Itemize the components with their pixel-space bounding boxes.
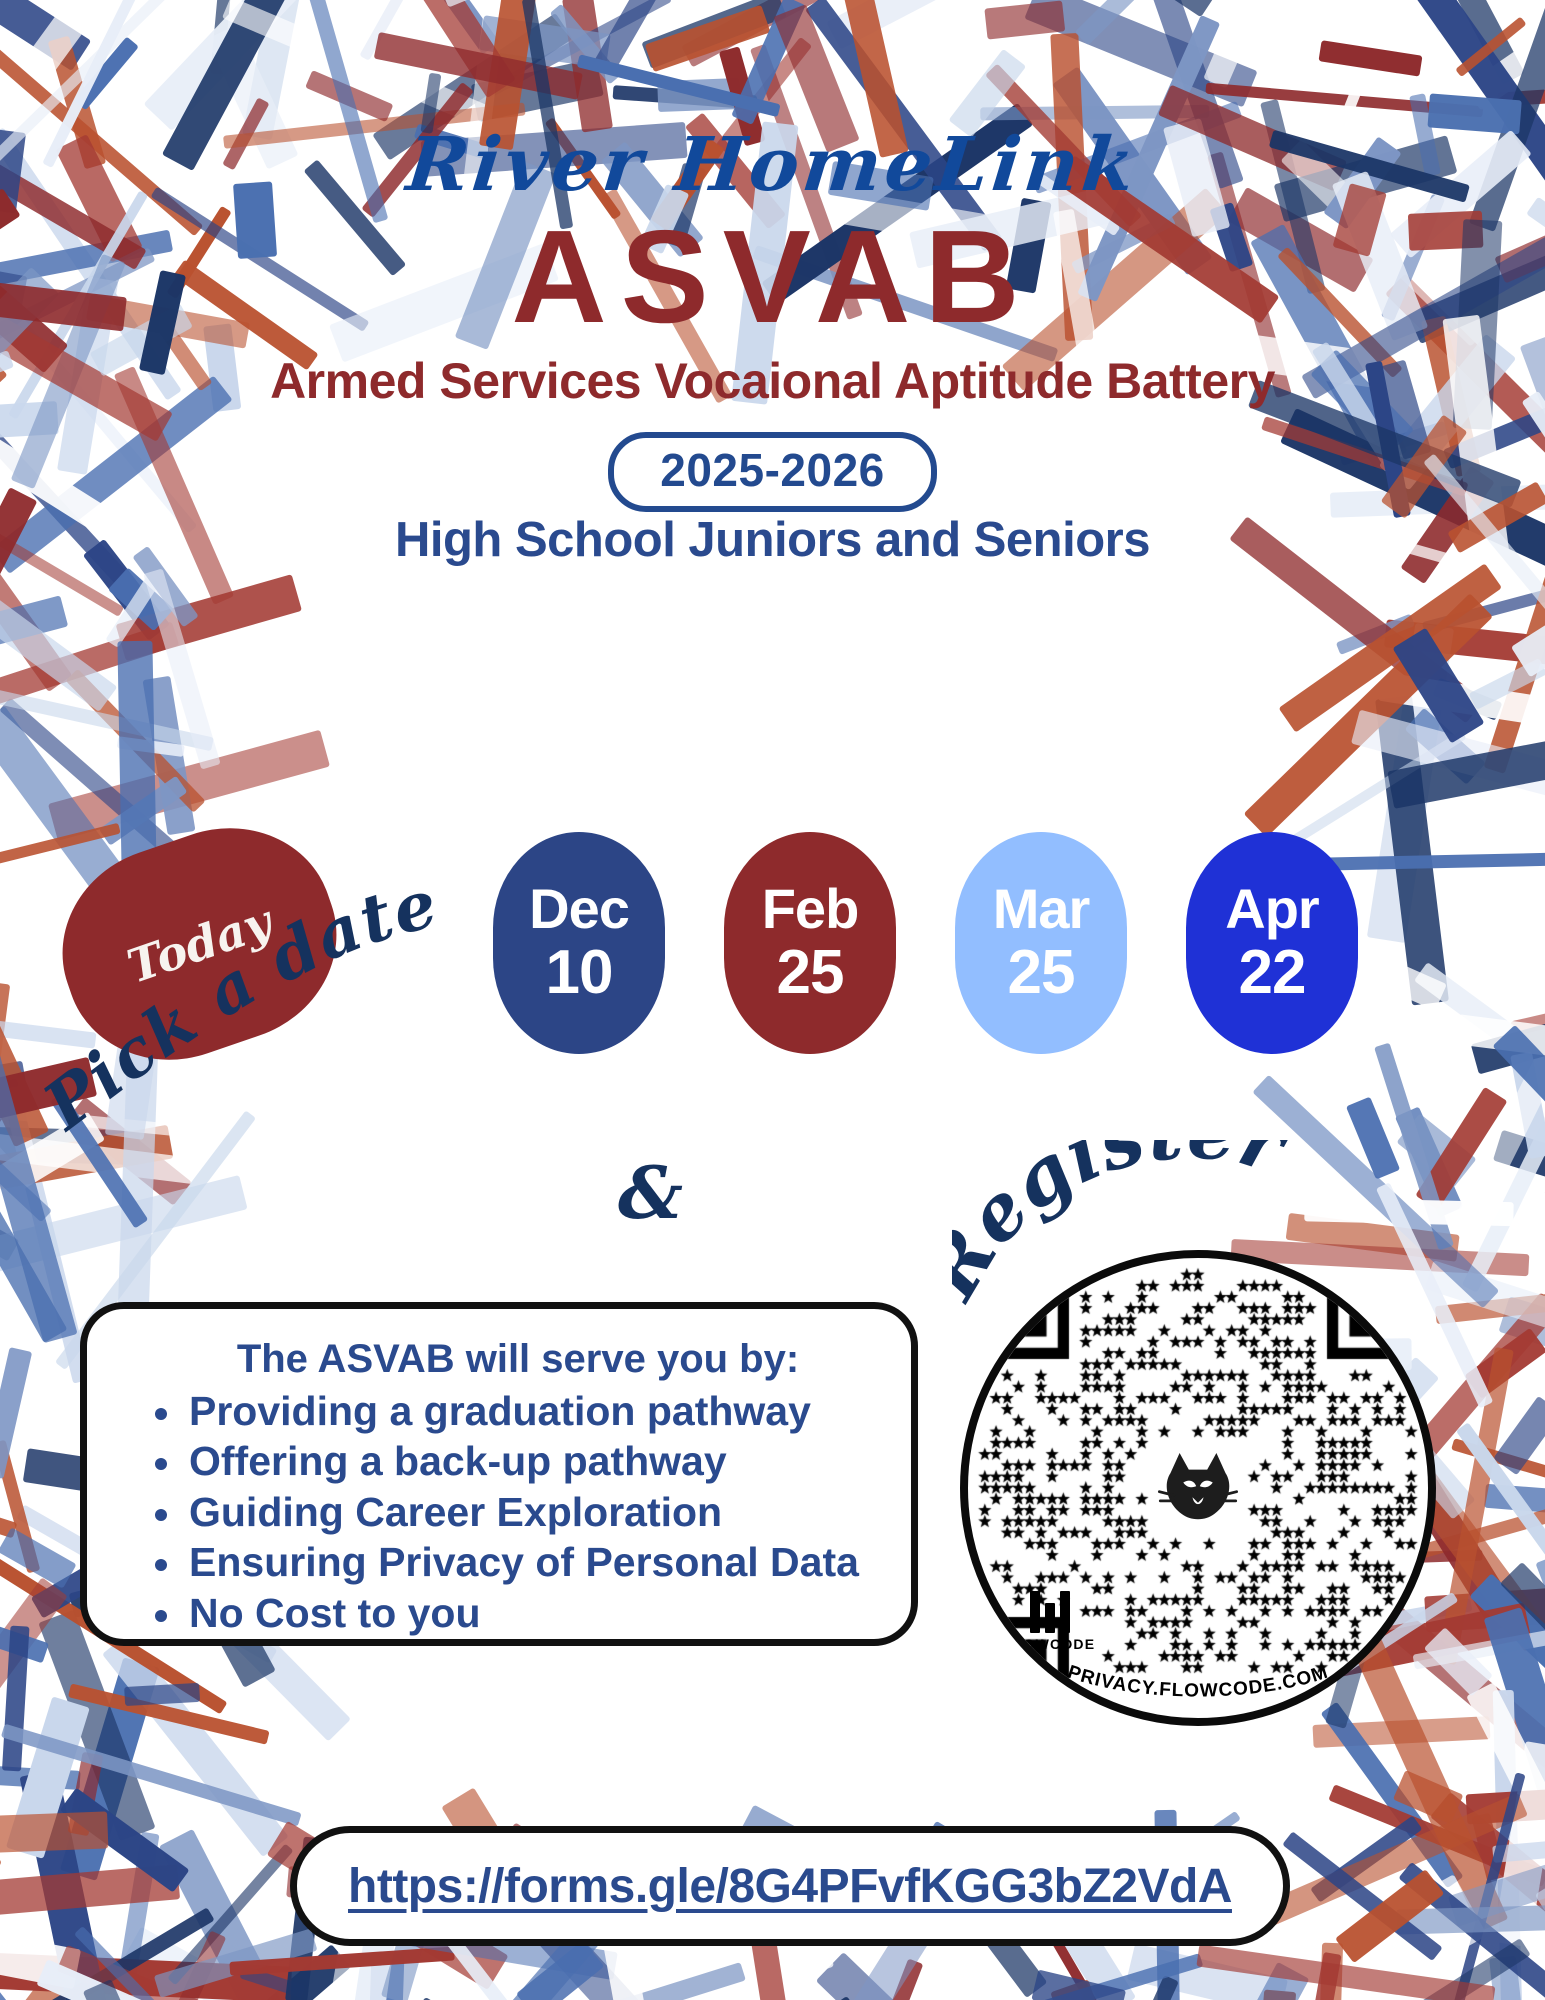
audience-line: High School Juniors and Seniors	[0, 512, 1545, 568]
date-pill-month: Mar	[993, 882, 1090, 937]
list-item: Offering a back-up pathway	[133, 1436, 881, 1486]
pick-a-date-text: Pick a date	[40, 890, 446, 1146]
date-pill-apr[interactable]: Apr 22	[1186, 832, 1358, 1054]
privacy-url-arc: PRIVACY.FLOWCODE.COM	[968, 1626, 1428, 1716]
benefits-box: The ASVAB will serve you by: Providing a…	[80, 1302, 918, 1646]
ampersand-glyph: &	[618, 1150, 683, 1235]
date-pill-day: 25	[1008, 943, 1075, 1004]
registration-url-bar[interactable]: https://forms.gle/8G4PFvfKGG3bZ2VdA	[290, 1826, 1290, 1946]
date-pill-feb[interactable]: Feb 25	[724, 832, 896, 1054]
date-pill-month: Feb	[762, 882, 859, 937]
registration-url[interactable]: https://forms.gle/8G4PFvfKGG3bZ2VdA	[348, 1859, 1232, 1914]
date-pill-day: 10	[546, 943, 613, 1004]
pick-a-date-script: Pick a date	[40, 890, 560, 1150]
qr-code[interactable]: FLOWCODE PRIVACY.FLOWCODE.COM	[960, 1250, 1436, 1726]
list-item: No Cost to you	[133, 1588, 881, 1638]
date-pill-mar[interactable]: Mar 25	[955, 832, 1127, 1054]
lynx-mascot-icon	[1152, 1442, 1244, 1534]
page-title: ASVAB	[0, 208, 1545, 347]
benefits-list: Providing a graduation pathway Offering …	[133, 1386, 881, 1638]
list-item: Ensuring Privacy of Personal Data	[133, 1537, 881, 1587]
list-item: Guiding Career Exploration	[133, 1487, 881, 1537]
date-pill-dec[interactable]: Dec 10	[493, 832, 665, 1054]
date-pill-day: 25	[777, 943, 844, 1004]
list-item: Providing a graduation pathway	[133, 1386, 881, 1436]
school-year-badge: 2025-2026	[608, 432, 936, 512]
date-pill-day: 22	[1239, 943, 1306, 1004]
date-pill-month: Dec	[529, 882, 629, 937]
organization-name: River HomeLink	[0, 122, 1545, 208]
acronym-expansion: Armed Services Vocaional Aptitude Batter…	[0, 352, 1545, 410]
benefits-title: The ASVAB will serve you by:	[155, 1337, 881, 1382]
asvab-flyer: River HomeLink ASVAB Armed Services Voca…	[0, 0, 1545, 2000]
school-year-badge-wrap: 2025-2026	[0, 432, 1545, 512]
date-pill-month: Apr	[1225, 882, 1318, 937]
privacy-url-text: PRIVACY.FLOWCODE.COM	[1065, 1662, 1331, 1702]
